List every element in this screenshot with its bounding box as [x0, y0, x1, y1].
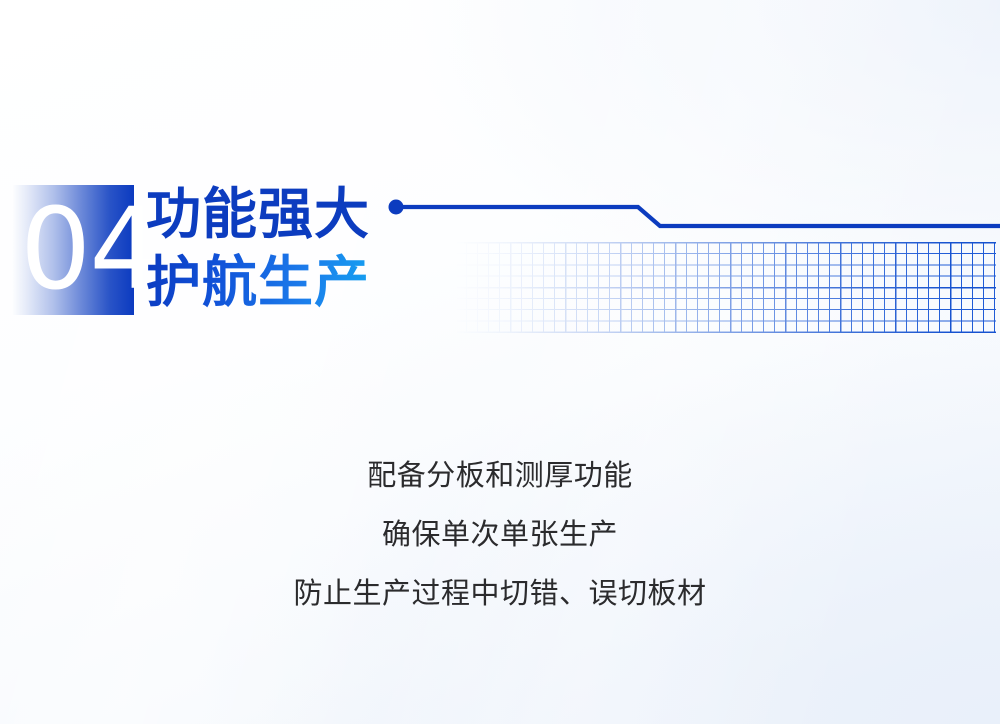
blueprint-grid-pattern — [455, 242, 996, 333]
body-line-3: 防止生产过程中切错、误切板材 — [0, 564, 1000, 623]
slide-canvas: 04 功能强大 护航生产 配备分板和测厚功能 确保单次单张生产 防止生产过程中切… — [0, 0, 1000, 724]
section-number-badge: 04 — [12, 185, 134, 315]
stepped-connector-line — [385, 190, 1000, 238]
headline-line-1: 功能强大 — [146, 180, 476, 248]
body-line-2: 确保单次单张生产 — [0, 505, 1000, 564]
headline-line-2: 护航生产 — [146, 248, 476, 316]
section-number: 04 — [20, 194, 159, 306]
body-copy: 配备分板和测厚功能 确保单次单张生产 防止生产过程中切错、误切板材 — [0, 446, 1000, 623]
section-headline: 功能强大 护航生产 — [146, 180, 476, 316]
body-line-1: 配备分板和测厚功能 — [0, 446, 1000, 505]
